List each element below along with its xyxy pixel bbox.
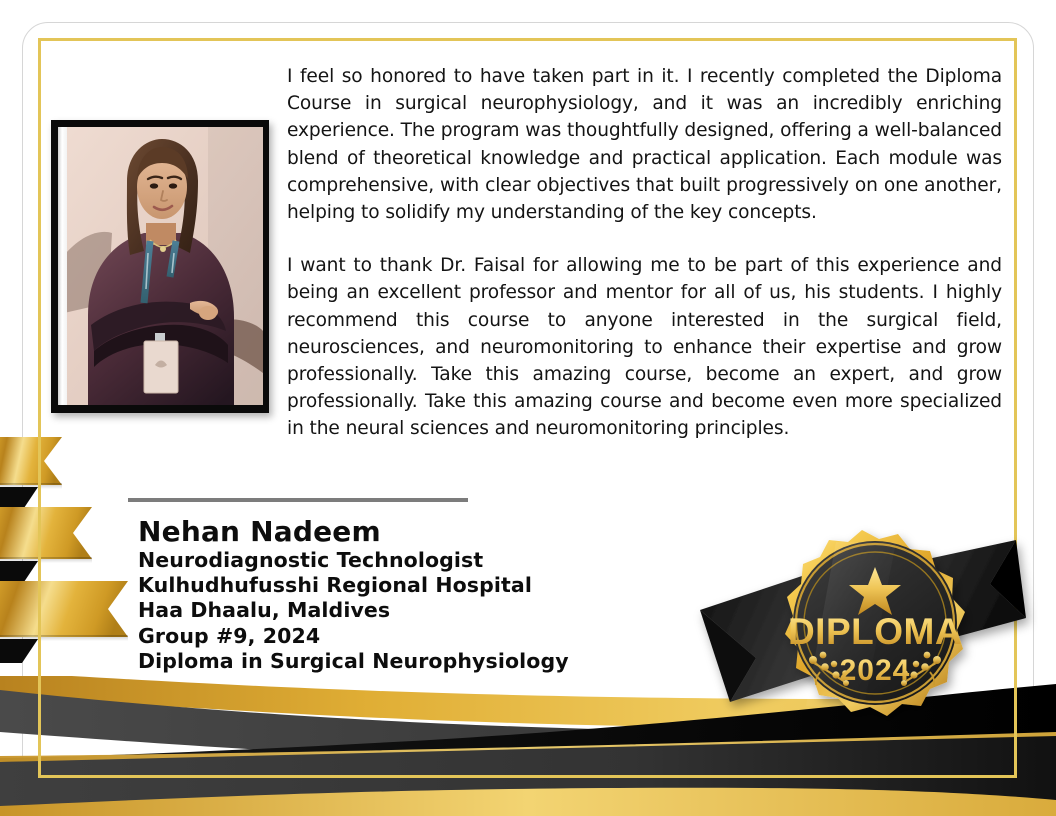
- signature-program: Diploma in Surgical Neurophysiology: [138, 649, 569, 674]
- portrait-photo-frame: [51, 120, 269, 413]
- seal-year: 2024: [840, 654, 911, 687]
- signature-role: Neurodiagnostic Technologist: [138, 548, 569, 573]
- medal-disc: [793, 541, 957, 705]
- portrait-photo: [58, 127, 263, 405]
- ribbon-banner-left: [700, 574, 842, 702]
- black-triangle-accent: [0, 487, 38, 511]
- testimonial-paragraph-1: I feel so honored to have taken part in …: [287, 63, 1002, 226]
- signature-location: Haa Dhaalu, Maldives: [138, 598, 569, 623]
- signature-name: Nehan Nadeem: [138, 515, 569, 548]
- testimonial-text: I feel so honored to have taken part in …: [287, 63, 1002, 443]
- medal-gold-edge: [785, 530, 965, 716]
- star-icon: [849, 567, 901, 615]
- black-triangle-accent: [0, 561, 38, 585]
- diploma-seal: DIPLOMA 2024: [686, 512, 1038, 774]
- bottom-wave-decoration: [0, 676, 1056, 816]
- seal-title: DIPLOMA: [788, 611, 962, 652]
- signature-divider: [128, 498, 468, 502]
- black-triangle-accent: [0, 639, 38, 663]
- photo-edge-glare: [58, 127, 67, 405]
- gold-ribbon-banner: [0, 437, 62, 489]
- signature-block: Nehan Nadeem Neurodiagnostic Technologis…: [128, 498, 569, 674]
- laurel-sprig-icon: [809, 652, 941, 686]
- testimonial-paragraph-2: I want to thank Dr. Faisal for allowing …: [287, 252, 1002, 442]
- ribbon-banner-right: [886, 540, 1026, 652]
- signature-organization: Kulhudhufusshi Regional Hospital: [138, 573, 569, 598]
- gold-ribbon-banner: [0, 581, 128, 641]
- signature-group: Group #9, 2024: [138, 624, 569, 649]
- testimonial-card: I feel so honored to have taken part in …: [0, 0, 1056, 816]
- gold-ribbon-banner: [0, 507, 92, 563]
